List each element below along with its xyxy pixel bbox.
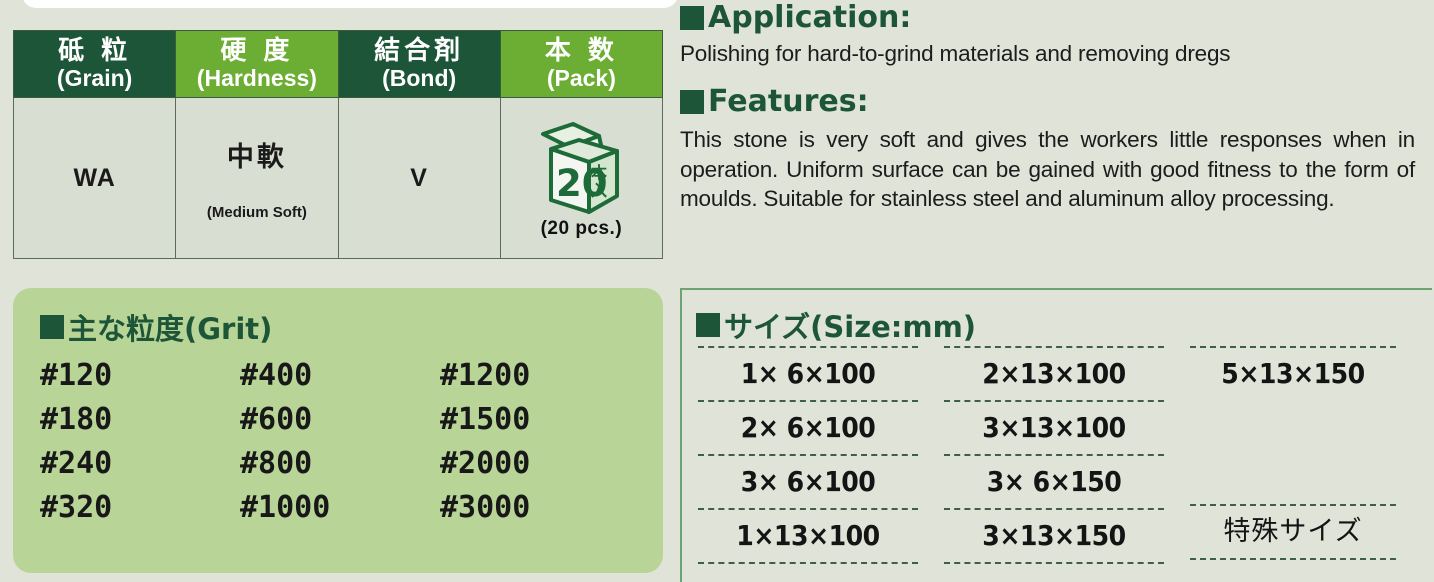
pack-caption: (20 pcs.) <box>541 218 623 240</box>
spec-header-grain-jp: 砥 粒 <box>14 38 175 65</box>
size-item: 1× 6×100 <box>698 346 918 400</box>
size-item: 2× 6×100 <box>698 400 918 454</box>
spec-value-bond-text: V <box>339 164 500 193</box>
size-item: 5×13×150 <box>1190 346 1396 400</box>
size-panel: サイズ(Size:mm) 1× 6×100 2× 6×100 3× 6×100 … <box>680 288 1432 582</box>
application-heading-label: Application: <box>708 0 911 35</box>
spec-header-bond-en: (Bond) <box>339 66 500 90</box>
grit-item: #3000 <box>440 486 640 530</box>
grit-item: #120 <box>40 354 240 398</box>
size-item: 3×13×150 <box>944 508 1164 564</box>
pack-cell-inner: 20 本 入 (20 pcs.) <box>501 116 662 240</box>
spec-header-grain-en: (Grain) <box>14 66 175 90</box>
spec-header-bond: 結合剤 (Bond) <box>338 31 500 98</box>
left-column: 砥 粒 (Grain) 硬 度 (Hardness) 結合剤 (Bond) 本 … <box>0 0 670 582</box>
spec-header-pack-jp: 本 数 <box>501 38 662 65</box>
grit-item: #1000 <box>240 486 440 530</box>
grit-item: #1200 <box>440 354 640 398</box>
right-column: Application: Polishing for hard-to-grind… <box>670 0 1434 582</box>
grit-item: #240 <box>40 442 240 486</box>
spec-header-hardness-jp: 硬 度 <box>176 38 337 65</box>
features-heading-label: Features: <box>708 84 869 119</box>
spec-value-hardness-sub: (Medium Soft) <box>176 204 337 221</box>
size-item: 2×13×100 <box>944 346 1164 400</box>
size-column-3: 5×13×150 特殊サイズ <box>1190 346 1422 564</box>
size-item: 1×13×100 <box>698 508 918 564</box>
square-bullet-icon <box>40 315 64 339</box>
spec-header-hardness-en: (Hardness) <box>176 66 337 90</box>
spec-header-bond-jp: 結合剤 <box>339 38 500 65</box>
square-bullet-icon <box>696 313 720 337</box>
grit-item: #1500 <box>440 398 640 442</box>
spec-table-header-row: 砥 粒 (Grain) 硬 度 (Hardness) 結合剤 (Bond) 本 … <box>14 31 663 98</box>
specification-table: 砥 粒 (Grain) 硬 度 (Hardness) 結合剤 (Bond) 本 … <box>13 30 663 259</box>
size-item: 特殊サイズ <box>1190 504 1396 560</box>
spec-table-value-row: WA 中軟 (Medium Soft) V <box>14 98 663 259</box>
application-text: Polishing for hard-to-grind materials an… <box>680 41 1425 67</box>
spec-header-pack: 本 数 (Pack) <box>500 31 662 98</box>
grit-item: #180 <box>40 398 240 442</box>
box-jp-label-2: 入 <box>591 181 607 200</box>
application-block: Application: Polishing for hard-to-grind… <box>680 0 1425 67</box>
spec-value-hardness-text: 中軟 <box>176 135 337 174</box>
features-text: This stone is very soft and gives the wo… <box>680 125 1415 214</box>
spec-header-hardness: 硬 度 (Hardness) <box>176 31 338 98</box>
size-grid: 1× 6×100 2× 6×100 3× 6×100 1×13×100 2×13… <box>698 346 1422 564</box>
grit-list: #120 #400 #1200 #180 #600 #1500 #240 #80… <box>40 354 640 530</box>
grit-item: #320 <box>40 486 240 530</box>
grit-heading-label: 主な粒度(Grit) <box>68 306 272 348</box>
size-item: 3× 6×100 <box>698 454 918 508</box>
grit-item: #400 <box>240 354 440 398</box>
box-jp-label-1: 本 <box>591 163 607 182</box>
application-heading: Application: <box>680 0 1425 35</box>
carton-box-icon: 20 本 入 <box>529 116 633 216</box>
spec-value-hardness: 中軟 (Medium Soft) <box>176 98 338 259</box>
spec-value-bond: V <box>338 98 500 259</box>
features-heading: Features: <box>680 84 1425 119</box>
size-heading-label: サイズ(Size:mm) <box>724 304 976 346</box>
spec-header-grain: 砥 粒 (Grain) <box>14 31 176 98</box>
spec-value-pack: 20 本 入 (20 pcs.) <box>500 98 662 259</box>
size-item: 3× 6×150 <box>944 454 1164 508</box>
size-column-2: 2×13×100 3×13×100 3× 6×150 3×13×150 <box>944 346 1190 564</box>
grit-heading: 主な粒度(Grit) <box>40 306 272 348</box>
size-column-1: 1× 6×100 2× 6×100 3× 6×100 1×13×100 <box>698 346 944 564</box>
grit-item: #600 <box>240 398 440 442</box>
spec-value-grain: WA <box>14 98 176 259</box>
features-block: Features: This stone is very soft and gi… <box>680 84 1425 214</box>
size-heading: サイズ(Size:mm) <box>696 304 976 346</box>
spec-value-grain-text: WA <box>14 164 175 193</box>
size-item-empty <box>1190 400 1396 452</box>
grit-item: #800 <box>240 442 440 486</box>
size-item-empty <box>1190 452 1396 504</box>
grit-item: #2000 <box>440 442 640 486</box>
spec-header-pack-en: (Pack) <box>501 66 662 90</box>
square-bullet-icon <box>680 6 704 30</box>
size-item: 3×13×100 <box>944 400 1164 454</box>
square-bullet-icon <box>680 90 704 114</box>
grit-panel: 主な粒度(Grit) #120 #400 #1200 #180 #600 #15… <box>13 288 663 573</box>
